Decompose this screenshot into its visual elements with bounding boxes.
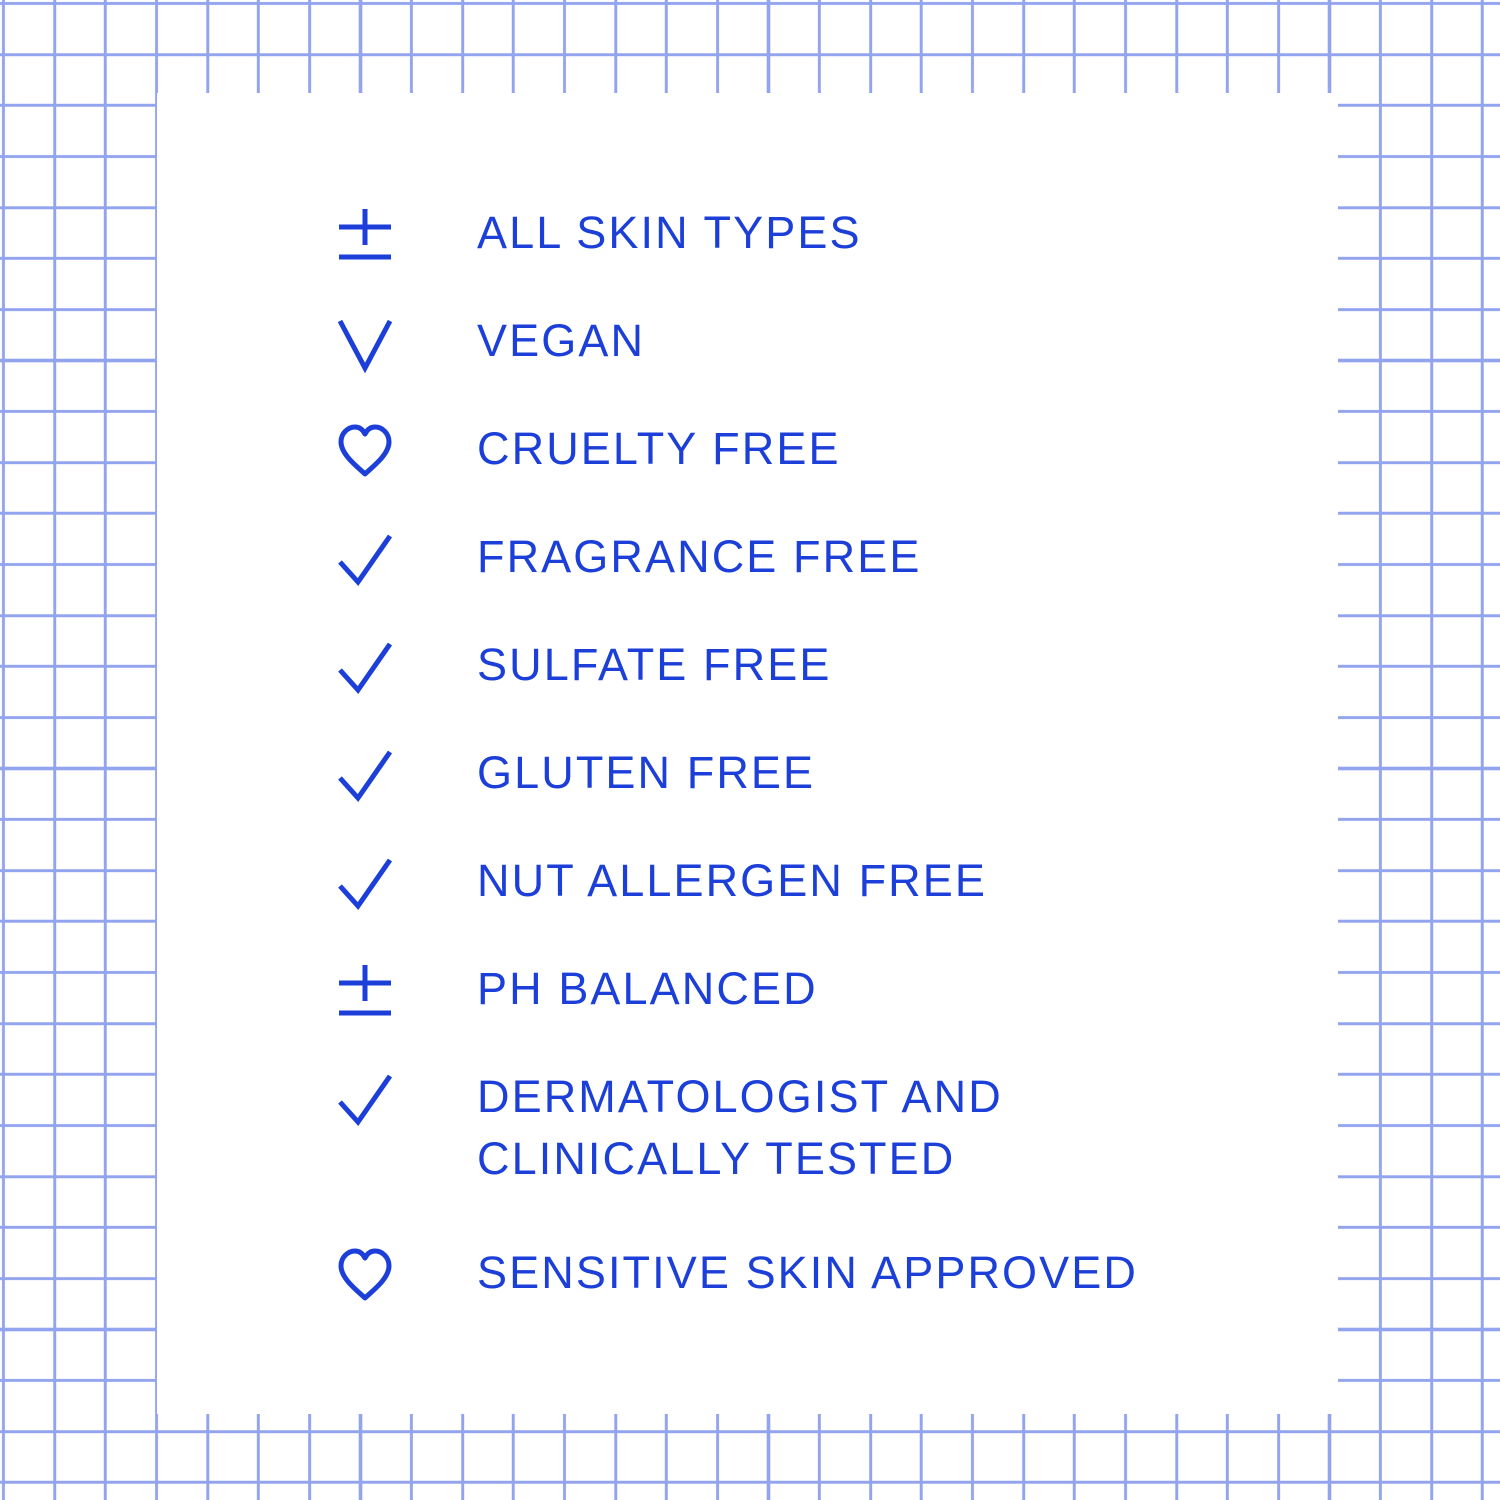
claim-item-sulfate-free: SULFATE FREE [337, 628, 1337, 736]
claim-label: SULFATE FREE [477, 634, 1337, 696]
claim-item-gluten-free: GLUTEN FREE [337, 736, 1337, 844]
claim-label: NUT ALLERGEN FREE [477, 850, 1337, 912]
claim-label: GLUTEN FREE [477, 742, 1337, 804]
claim-item-fragrance-free: FRAGRANCE FREE [337, 520, 1337, 628]
checkmark-icon [337, 848, 405, 920]
claim-item-dermatologist-clinically-tested: DERMATOLOGIST AND CLINICALLY TESTED [337, 1060, 1337, 1236]
claim-label: PH BALANCED [477, 958, 1337, 1020]
heart-icon [337, 416, 405, 488]
claim-item-sensitive-skin-approved: SENSITIVE SKIN APPROVED [337, 1236, 1337, 1344]
claim-label: CRUELTY FREE [477, 418, 1337, 480]
product-claims-card: ALL SKIN TYPES VEGAN CRUELTY FREE [0, 0, 1500, 1500]
claim-item-nut-allergen-free: NUT ALLERGEN FREE [337, 844, 1337, 952]
plus-minus-icon [337, 956, 405, 1028]
heart-icon [337, 1240, 405, 1312]
claim-label: SENSITIVE SKIN APPROVED [477, 1242, 1337, 1304]
claim-label: DERMATOLOGIST AND CLINICALLY TESTED [477, 1066, 1337, 1190]
checkmark-icon [337, 1064, 405, 1136]
checkmark-icon [337, 524, 405, 596]
claim-item-ph-balanced: PH BALANCED [337, 952, 1337, 1060]
plus-minus-icon [337, 200, 405, 272]
claim-item-all-skin-types: ALL SKIN TYPES [337, 196, 1337, 304]
claim-item-cruelty-free: CRUELTY FREE [337, 412, 1337, 520]
claim-label: ALL SKIN TYPES [477, 202, 1337, 264]
v-chevron-icon [337, 308, 405, 380]
checkmark-icon [337, 740, 405, 812]
checkmark-icon [337, 632, 405, 704]
claims-list: ALL SKIN TYPES VEGAN CRUELTY FREE [337, 196, 1337, 1344]
claim-label: VEGAN [477, 310, 1337, 372]
claim-item-vegan: VEGAN [337, 304, 1337, 412]
claim-label: FRAGRANCE FREE [477, 526, 1337, 588]
